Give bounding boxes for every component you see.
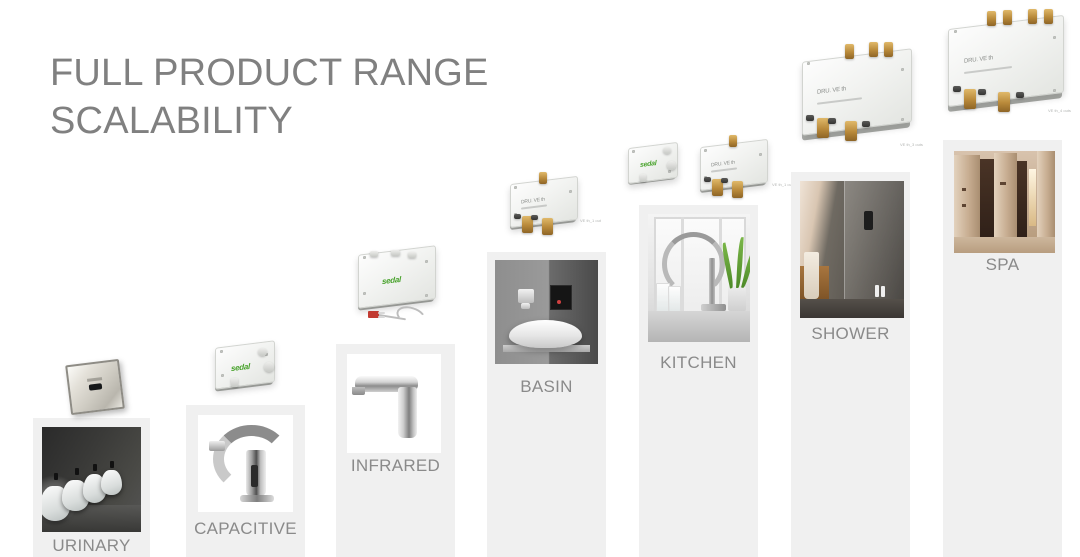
column-capacitive[interactable]: CAPACITIVE <box>186 405 305 557</box>
column-kitchen[interactable]: KITCHEN <box>639 205 758 557</box>
device-control-box-shower: DRU. VE th <box>802 55 910 127</box>
column-shower[interactable]: SHOWER <box>791 172 910 557</box>
device-sedal-box-kitchen: sedal <box>628 145 676 179</box>
device-caption-shower: VE th_3 outs <box>900 142 923 147</box>
device-sedal-box-capacitive: sedal <box>215 344 273 384</box>
column-label-shower: SHOWER <box>791 324 910 344</box>
device-caption-kitchen: VE th_1 out <box>772 182 793 187</box>
shower-photo <box>800 181 904 318</box>
column-urinary[interactable]: URINARY <box>33 418 150 557</box>
column-label-basin: BASIN <box>487 377 606 397</box>
spa-photo <box>954 151 1055 253</box>
device-sedal-box-infrared: sedal <box>358 250 434 302</box>
kitchen-photo <box>648 214 750 342</box>
product-urinal-flush-plate <box>65 359 125 415</box>
column-label-capacitive: CAPACITIVE <box>186 519 305 539</box>
device-caption-spa: VE th_4 outs <box>1048 108 1071 113</box>
device-control-box-spa: DRU. VE th <box>948 22 1062 98</box>
device-cable-infrared <box>368 305 426 327</box>
column-label-kitchen: KITCHEN <box>639 353 758 373</box>
device-caption-basin: VE th_1 out <box>580 218 601 223</box>
column-infrared[interactable]: INFRARED <box>336 344 455 557</box>
infrared-photo <box>347 354 441 453</box>
slide-canvas: FULL PRODUCT RANGE SCALABILITY URINARY <box>0 0 1080 557</box>
device-control-box-basin: DRU. VE th <box>510 180 576 222</box>
basin-photo <box>495 260 598 364</box>
urinary-photo <box>42 427 141 532</box>
device-control-box-kitchen: DRU. VE th <box>700 143 766 185</box>
column-label-spa: SPA <box>943 255 1062 275</box>
column-label-urinary: URINARY <box>33 536 150 556</box>
capacitive-photo <box>198 415 293 512</box>
column-basin[interactable]: BASIN <box>487 252 606 557</box>
page-title: FULL PRODUCT RANGE SCALABILITY <box>50 50 570 145</box>
column-label-infrared: INFRARED <box>336 456 455 476</box>
column-spa[interactable]: SPA <box>943 140 1062 557</box>
